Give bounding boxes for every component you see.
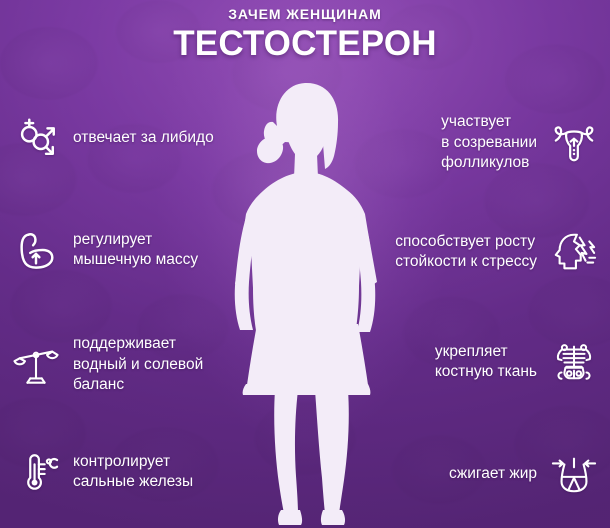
benefit-label: способствует росту стойкости к стрессу xyxy=(395,232,537,273)
uterus-ovaries-icon xyxy=(548,117,600,169)
kicker-text: ЗАЧЕМ ЖЕНЩИНАМ xyxy=(0,6,610,23)
benefit-item-water-salt-balance: поддерживает водный и солевой баланс xyxy=(0,334,266,396)
benefit-label: участвует в созревании фолликулов xyxy=(441,112,537,174)
benefit-item-fat-burning: сжигает жир xyxy=(344,448,610,500)
benefit-label: отвечает за либидо xyxy=(73,128,214,149)
gender-symbols-icon xyxy=(10,112,62,164)
left-benefits-column: отвечает за либидо регулирует мышечную м… xyxy=(0,0,266,528)
benefit-label: сжигает жир xyxy=(449,464,537,485)
benefit-item-muscle-mass: регулирует мышечную массу xyxy=(0,224,266,276)
benefit-item-sebaceous-glands: контролирует сальные железы xyxy=(0,446,266,498)
page-title: ТЕСТОСТЕРОН xyxy=(0,24,610,64)
benefit-label: укрепляет костную ткань xyxy=(435,342,537,383)
right-benefits-column: участвует в созревании фолликулов способ… xyxy=(344,0,610,528)
infographic-poster: ЗАЧЕМ ЖЕНЩИНАМ ТЕСТОСТЕРОН xyxy=(0,0,610,528)
slim-waist-icon xyxy=(548,448,600,500)
thermometer-icon xyxy=(10,446,62,498)
benefit-item-bone-tissue: укрепляет костную ткань xyxy=(344,336,610,388)
poster-header: ЗАЧЕМ ЖЕНЩИНАМ ТЕСТОСТЕРОН xyxy=(0,0,610,64)
flexed-bicep-icon xyxy=(10,224,62,276)
balance-scales-icon xyxy=(10,339,62,391)
skeleton-bones-icon xyxy=(548,336,600,388)
benefit-item-follicle-maturation: участвует в созревании фолликулов xyxy=(344,112,610,174)
benefit-label: поддерживает водный и солевой баланс xyxy=(73,334,203,396)
benefit-item-libido: отвечает за либидо xyxy=(0,112,266,164)
benefit-item-stress-resistance: способствует росту стойкости к стрессу xyxy=(344,226,610,278)
benefit-label: контролирует сальные железы xyxy=(73,452,193,493)
benefit-label: регулирует мышечную массу xyxy=(73,230,198,271)
head-lightning-icon xyxy=(548,226,600,278)
